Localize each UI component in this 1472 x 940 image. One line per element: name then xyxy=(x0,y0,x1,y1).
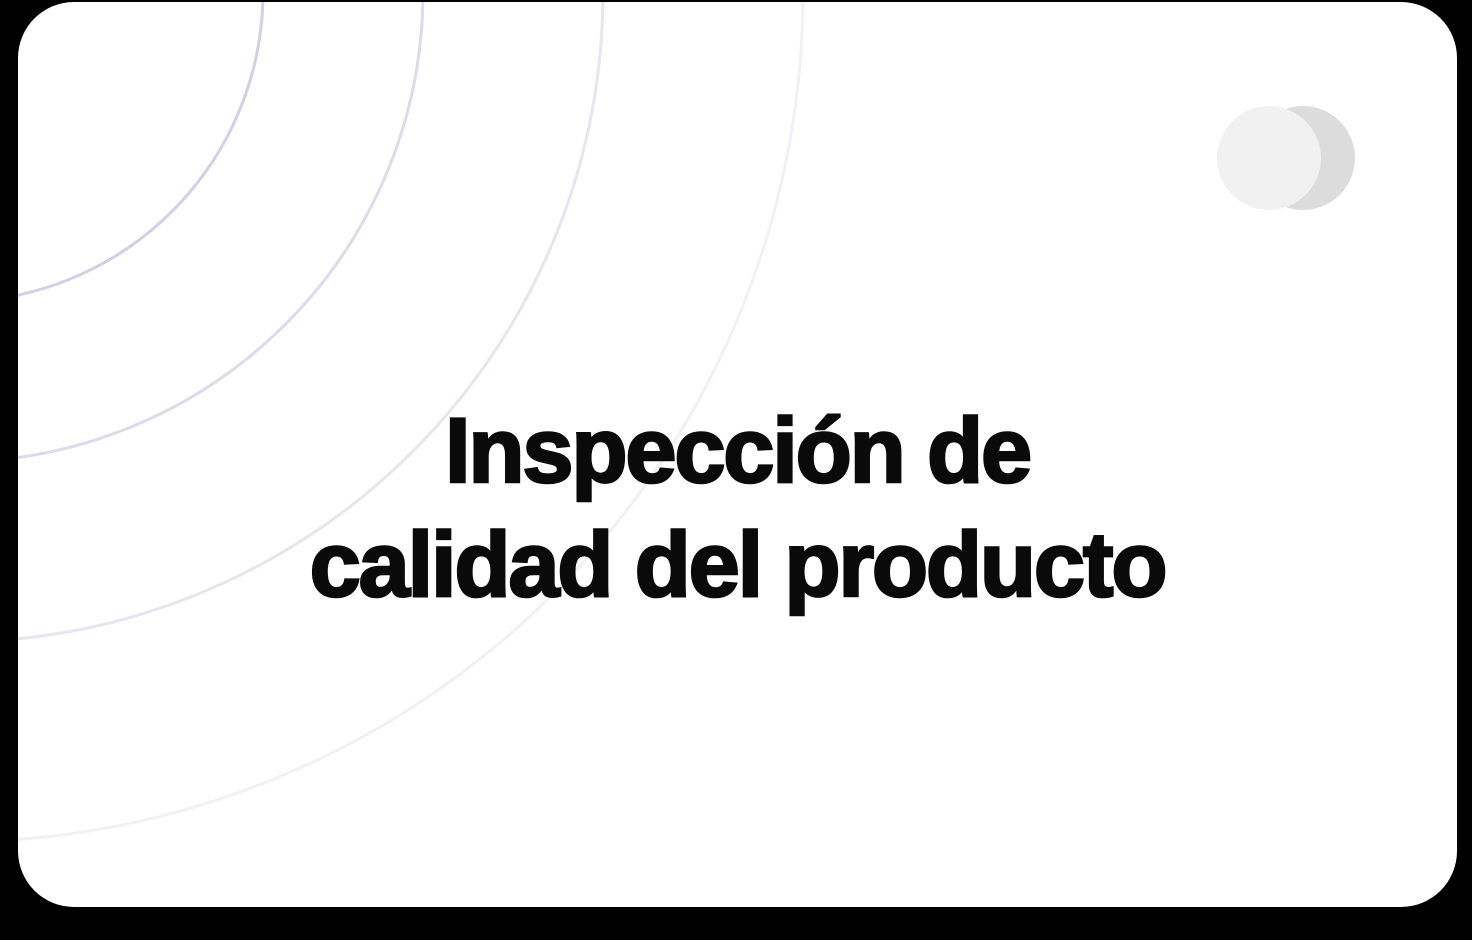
slide-root: Inspección de calidad del producto xyxy=(0,0,1472,940)
logo-mark xyxy=(1217,106,1355,210)
arc-ring-1 xyxy=(18,2,263,302)
page-title-line-1: Inspección de xyxy=(78,394,1397,508)
logo-circle-front-icon xyxy=(1217,106,1321,210)
page-title-line-2: calidad del producto xyxy=(78,508,1397,622)
page-title: Inspección de calidad del producto xyxy=(18,394,1457,622)
title-card: Inspección de calidad del producto xyxy=(18,2,1457,907)
